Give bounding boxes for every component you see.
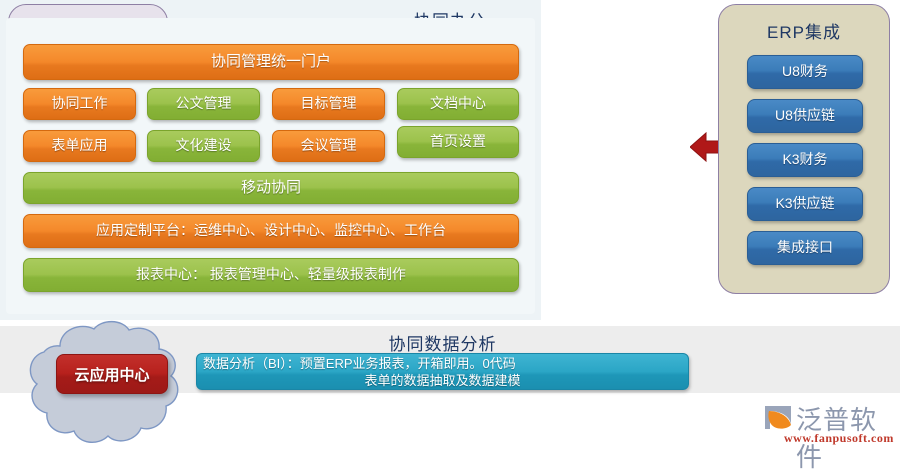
- button-label: 移动协同: [241, 179, 301, 198]
- bottom-section-title: 协同数据分析: [172, 330, 713, 355]
- erp-item-u8-finance[interactable]: U8财务: [747, 55, 863, 89]
- app-customization-platform-button[interactable]: 应用定制平台：运维中心、设计中心、监控中心、工作台: [23, 214, 519, 248]
- button-label: 表单应用: [52, 137, 108, 155]
- button-label: K3财务: [782, 151, 827, 169]
- erp-item-u8-supply-chain[interactable]: U8供应链: [747, 99, 863, 133]
- center-panel-inner: 协同管理统一门户 协同工作 公文管理 目标管理 文档中心 表单应用 文化建设 会…: [6, 18, 535, 314]
- button-label: U8财务: [782, 63, 828, 81]
- erp-item-k3-supply-chain[interactable]: K3供应链: [747, 187, 863, 221]
- meeting-management-button[interactable]: 会议管理: [272, 130, 385, 162]
- button-label: 文化建设: [176, 137, 232, 155]
- form-application-button[interactable]: 表单应用: [23, 130, 136, 162]
- goal-management-button[interactable]: 目标管理: [272, 88, 385, 120]
- erp-integration-panel: ERP集成 U8财务 U8供应链 K3财务 K3供应链 集成接口: [718, 4, 890, 294]
- mobile-collaboration-button[interactable]: 移动协同: [23, 172, 519, 204]
- button-label: 云应用中心: [74, 364, 149, 385]
- button-label: 目标管理: [301, 95, 357, 113]
- collab-work-button[interactable]: 协同工作: [23, 88, 136, 120]
- cloud-app-center-group: 云应用中心: [14, 318, 192, 448]
- button-label: 协同管理统一门户: [211, 53, 331, 72]
- culture-construction-button[interactable]: 文化建设: [147, 130, 260, 162]
- collaborative-office-panel: 协同办公 协同管理统一门户 协同工作 公文管理 目标管理 文档中心 表单应用 文…: [0, 0, 541, 320]
- button-label: 会议管理: [301, 137, 357, 155]
- erp-item-integration-interface[interactable]: 集成接口: [747, 231, 863, 265]
- report-center-button[interactable]: 报表中心： 报表管理中心、轻量级报表制作: [23, 258, 519, 292]
- button-label: 协同工作: [52, 95, 108, 113]
- logo-mark-icon: [762, 402, 796, 432]
- button-label: K3供应链: [775, 195, 834, 213]
- fanpu-software-logo: 泛普软件 www.fanpusoft.com: [760, 398, 898, 450]
- official-document-management-button[interactable]: 公文管理: [147, 88, 260, 120]
- bi-line-1: 数据分析（BI）：预置ERP业务报表，开箱即用。0代码: [197, 355, 688, 372]
- button-label: 文档中心: [430, 95, 486, 113]
- button-label: 应用定制平台：运维中心、设计中心、监控中心、工作台: [96, 222, 446, 240]
- cloud-app-center-button[interactable]: 云应用中心: [56, 354, 168, 394]
- document-center-button[interactable]: 文档中心: [397, 88, 519, 120]
- button-label: 首页设置: [430, 133, 486, 151]
- logo-url: www.fanpusoft.com: [784, 431, 894, 446]
- unified-portal-button[interactable]: 协同管理统一门户: [23, 44, 519, 80]
- bi-line-2: 表单的数据抽取及数据建模: [197, 372, 688, 389]
- right-panel-title: ERP集成: [719, 18, 889, 43]
- button-label: 集成接口: [777, 239, 833, 257]
- button-label: U8供应链: [775, 107, 835, 125]
- bi-description-box[interactable]: 数据分析（BI）：预置ERP业务报表，开箱即用。0代码 表单的数据抽取及数据建模: [196, 353, 689, 390]
- button-label: 公文管理: [176, 95, 232, 113]
- button-label: 报表中心： 报表管理中心、轻量级报表制作: [136, 266, 406, 284]
- homepage-settings-button[interactable]: 首页设置: [397, 126, 519, 158]
- erp-item-k3-finance[interactable]: K3财务: [747, 143, 863, 177]
